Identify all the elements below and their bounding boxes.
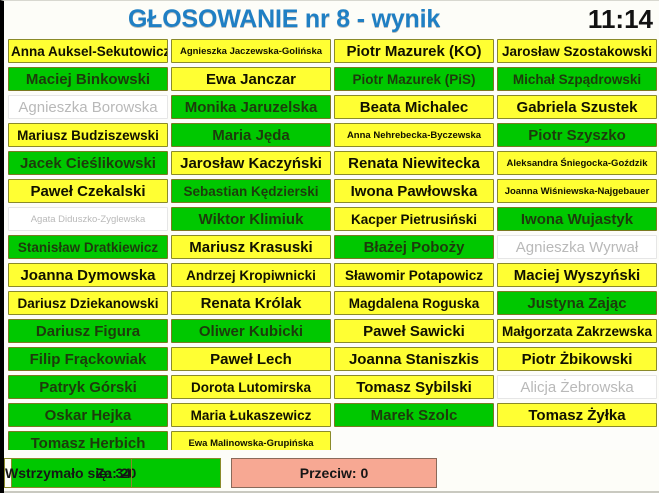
voter-name: Tomasz Herbich — [9, 435, 167, 452]
voter-name: Tomasz Sybilski — [335, 379, 493, 396]
voter-cell: Wiktor Klimiuk — [171, 207, 331, 231]
voter-name: Anna Nehrebecka-Byczewska — [335, 130, 493, 141]
voter-name: Błażej Poboży — [335, 239, 493, 256]
voter-cell: Paweł Sawicki — [334, 319, 494, 343]
voter-cell: Paweł Czekalski — [8, 179, 168, 203]
voter-name: Tomasz Żyłka — [498, 407, 656, 424]
voter-cell: Agnieszka Borowska — [8, 95, 168, 119]
voter-name: Stanisław Dratkiewicz — [9, 240, 167, 255]
voter-cell: Piotr Mazurek (KO) — [334, 39, 494, 63]
voter-name: Joanna Dymowska — [9, 267, 167, 284]
voter-cell: Mariusz Krasuski — [171, 235, 331, 259]
voter-cell: Sebastian Kędzierski — [171, 179, 331, 203]
voter-name: Gabriela Szustek — [498, 99, 656, 116]
voter-name: Andrzej Kropiwnicki — [172, 268, 330, 283]
voter-cell: Stanisław Dratkiewicz — [8, 235, 168, 259]
voter-name: Renata Królak — [172, 295, 330, 312]
voter-cell: Oliwer Kubicki — [171, 319, 331, 343]
voter-cell: Dariusz Dziekanowski — [8, 291, 168, 315]
voter-name: Paweł Lech — [172, 351, 330, 368]
voter-name: Beata Michalec — [335, 99, 493, 116]
voter-name: Maciej Binkowski — [9, 71, 167, 88]
clock: 11:14 — [561, 3, 653, 35]
voter-name: Małgorzata Zakrzewska — [498, 324, 656, 339]
voter-name: Sławomir Potapowicz — [335, 268, 493, 283]
voter-name: Paweł Sawicki — [335, 323, 493, 340]
voter-column-4: Jarosław SzostakowskiMichał SzpądrowskiG… — [497, 39, 657, 431]
voter-cell: Iwona Wujastyk — [497, 207, 657, 231]
voter-name: Joanna Wiśniewska-Najgebauer — [498, 186, 656, 197]
voter-cell: Mariusz Budziszewski — [8, 123, 168, 147]
voter-name: Patryk Górski — [9, 379, 167, 396]
voter-name: Filip Frąckowiak — [9, 351, 167, 368]
voter-name: Mariusz Krasuski — [172, 239, 330, 256]
voter-name: Michał Szpądrowski — [498, 72, 656, 87]
voter-cell: Maciej Wyszyński — [497, 263, 657, 287]
voter-cell: Monika Jaruzelska — [171, 95, 331, 119]
voter-name: Iwona Wujastyk — [498, 211, 656, 228]
voter-cell: Joanna Dymowska — [8, 263, 168, 287]
page-title: GŁOSOWANIE nr 8 - wynik — [4, 3, 564, 35]
voter-cell: Maciej Binkowski — [8, 67, 168, 91]
voter-column-1: Anna Auksel-SekutowiczMaciej BinkowskiAg… — [8, 39, 168, 459]
voter-cell: Maria Łukaszewicz — [171, 403, 331, 427]
voter-name: Oliwer Kubicki — [172, 323, 330, 340]
tally-przeciw: Przeciw: 0 — [231, 458, 437, 488]
voter-name: Alicja Żebrowska — [498, 379, 656, 396]
voter-name: Justyna Zając — [498, 295, 656, 312]
voter-cell: Renata Niewitecka — [334, 151, 494, 175]
voter-name: Mariusz Budziszewski — [9, 128, 167, 143]
voter-cell: Justyna Zając — [497, 291, 657, 315]
voter-name: Aleksandra Śniegocka-Goździk — [498, 158, 656, 169]
voter-cell: Małgorzata Zakrzewska — [497, 319, 657, 343]
voter-name: Maria Jęda — [172, 127, 330, 144]
voter-name: Magdalena Roguska — [335, 296, 493, 311]
voter-cell: Joanna Staniszkis — [334, 347, 494, 371]
voting-board: GŁOSOWANIE nr 8 - wynik 11:14 Anna Aukse… — [0, 0, 659, 493]
voter-name: Anna Auksel-Sekutowicz — [9, 44, 167, 59]
voter-grid: Anna Auksel-SekutowiczMaciej BinkowskiAg… — [4, 39, 659, 451]
voter-name: Joanna Staniszkis — [335, 351, 493, 368]
voter-cell: Agnieszka Jaczewska-Golińska — [171, 39, 331, 63]
voter-name: Jarosław Szostakowski — [498, 44, 656, 59]
voter-cell: Alicja Żebrowska — [497, 375, 657, 399]
voter-cell: Oskar Hejka — [8, 403, 168, 427]
voter-name: Paweł Czekalski — [9, 183, 167, 200]
voter-name: Agnieszka Wyrwał — [498, 239, 656, 256]
voter-cell: Jarosław Kaczyński — [171, 151, 331, 175]
voter-name: Marek Szolc — [335, 407, 493, 424]
voter-cell: Anna Nehrebecka-Byczewska — [334, 123, 494, 147]
voter-name: Monika Jaruzelska — [172, 99, 330, 116]
voter-name: Jacek Cieślikowski — [9, 155, 167, 172]
voter-cell: Iwona Pawłowska — [334, 179, 494, 203]
voter-cell: Piotr Szyszko — [497, 123, 657, 147]
voter-name: Renata Niewitecka — [335, 155, 493, 172]
voter-name: Piotr Mazurek (KO) — [335, 43, 493, 60]
voter-cell: Ewa Janczar — [171, 67, 331, 91]
voter-cell: Filip Frąckowiak — [8, 347, 168, 371]
tally-bar: Za: 20 Przeciw: 0 Wstrzymało się: 34 — [4, 450, 659, 493]
voter-name: Jarosław Kaczyński — [172, 155, 330, 172]
voter-cell: Kacper Pietrusiński — [334, 207, 494, 231]
voter-column-3: Piotr Mazurek (KO)Piotr Mazurek (PiS)Bea… — [334, 39, 494, 431]
voter-cell: Joanna Wiśniewska-Najgebauer — [497, 179, 657, 203]
voter-name: Ewa Malinowska-Grupińska — [172, 438, 330, 449]
voter-cell: Agata Diduszko-Zyglewska — [8, 207, 168, 231]
voter-name: Piotr Szyszko — [498, 127, 656, 144]
voter-cell: Renata Królak — [171, 291, 331, 315]
voter-name: Ewa Janczar — [172, 71, 330, 88]
voter-cell: Tomasz Sybilski — [334, 375, 494, 399]
voter-cell: Patryk Górski — [8, 375, 168, 399]
voter-cell: Andrzej Kropiwnicki — [171, 263, 331, 287]
voter-name: Oskar Hejka — [9, 407, 167, 424]
voter-name: Maciej Wyszyński — [498, 267, 656, 284]
voter-name: Agata Diduszko-Zyglewska — [9, 214, 167, 225]
voter-cell: Dariusz Figura — [8, 319, 168, 343]
voter-name: Wiktor Klimiuk — [172, 211, 330, 228]
voter-cell: Beata Michalec — [334, 95, 494, 119]
voter-name: Dariusz Dziekanowski — [9, 296, 167, 311]
tally-wstrzymalo: Wstrzymało się: 34 — [4, 458, 132, 488]
voter-cell: Sławomir Potapowicz — [334, 263, 494, 287]
voter-name: Agnieszka Borowska — [9, 99, 167, 116]
voter-cell: Maria Jęda — [171, 123, 331, 147]
voter-name: Agnieszka Jaczewska-Golińska — [172, 46, 330, 57]
tally-przeciw-label: Przeciw: 0 — [300, 465, 368, 481]
voter-cell: Błażej Poboży — [334, 235, 494, 259]
voter-name: Sebastian Kędzierski — [172, 184, 330, 199]
voter-cell: Agnieszka Wyrwał — [497, 235, 657, 259]
voter-name: Piotr Mazurek (PiS) — [335, 72, 493, 87]
voter-name: Maria Łukaszewicz — [172, 408, 330, 423]
voter-name: Dariusz Figura — [9, 323, 167, 340]
voter-cell: Paweł Lech — [171, 347, 331, 371]
voter-cell: Jarosław Szostakowski — [497, 39, 657, 63]
voter-cell: Magdalena Roguska — [334, 291, 494, 315]
voter-cell: Tomasz Żyłka — [497, 403, 657, 427]
voter-name: Kacper Pietrusiński — [335, 212, 493, 227]
voter-cell: Anna Auksel-Sekutowicz — [8, 39, 168, 63]
voter-column-2: Agnieszka Jaczewska-GolińskaEwa JanczarM… — [171, 39, 331, 459]
voter-cell: Aleksandra Śniegocka-Goździk — [497, 151, 657, 175]
voter-cell: Piotr Mazurek (PiS) — [334, 67, 494, 91]
voter-cell: Michał Szpądrowski — [497, 67, 657, 91]
voter-cell: Dorota Lutomirska — [171, 375, 331, 399]
voter-cell: Marek Szolc — [334, 403, 494, 427]
tally-wstrzymalo-label: Wstrzymało się: 34 — [5, 465, 131, 481]
voter-cell: Jacek Cieślikowski — [8, 151, 168, 175]
voter-name: Dorota Lutomirska — [172, 380, 330, 395]
voter-cell: Piotr Żbikowski — [497, 347, 657, 371]
header: GŁOSOWANIE nr 8 - wynik 11:14 — [4, 1, 659, 39]
voter-name: Iwona Pawłowska — [335, 183, 493, 200]
voter-name: Piotr Żbikowski — [498, 351, 656, 368]
voter-cell: Gabriela Szustek — [497, 95, 657, 119]
